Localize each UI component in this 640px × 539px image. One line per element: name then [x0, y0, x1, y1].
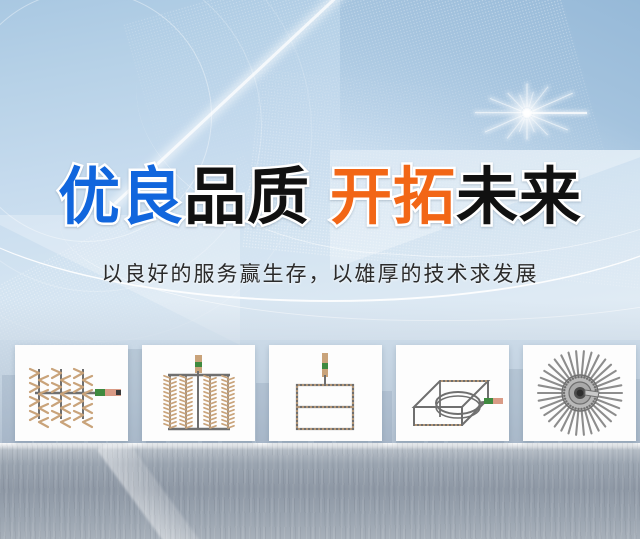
product-card-frame-heater[interactable]: 框架式加热器	[269, 345, 382, 441]
product-card-row: 梳齿形加热器篮式加热器框架式加热器环形框架加热器星形加热器	[0, 345, 640, 444]
product-card-star-heater[interactable]: 星形加热器	[523, 345, 636, 441]
headline-seg-pinzhi: 品质	[184, 163, 310, 232]
flare-ray	[527, 112, 587, 113]
headline-seg-weilai: 未来	[456, 163, 582, 232]
concrete-ground	[0, 443, 640, 539]
headline-seg-kaituo: 开拓	[330, 163, 456, 232]
product-card-comb-heater[interactable]: 梳齿形加热器	[15, 345, 128, 441]
promo-banner: 优良品质开拓未来 以良好的服务赢生存，以雄厚的技术求发展 梳齿形加热器篮式加热器…	[0, 0, 640, 539]
product-card-basket-heater[interactable]: 篮式加热器	[142, 345, 255, 441]
headline-seg-youliang: 优良	[58, 163, 184, 232]
product-card-ring-frame-heater[interactable]: 环形框架加热器	[396, 345, 509, 441]
ground-highlight	[0, 443, 640, 450]
page-subtitle: 以良好的服务赢生存，以雄厚的技术求发展	[0, 258, 640, 288]
page-title: 优良品质开拓未来	[0, 167, 640, 229]
ground-light-streak	[97, 443, 233, 539]
